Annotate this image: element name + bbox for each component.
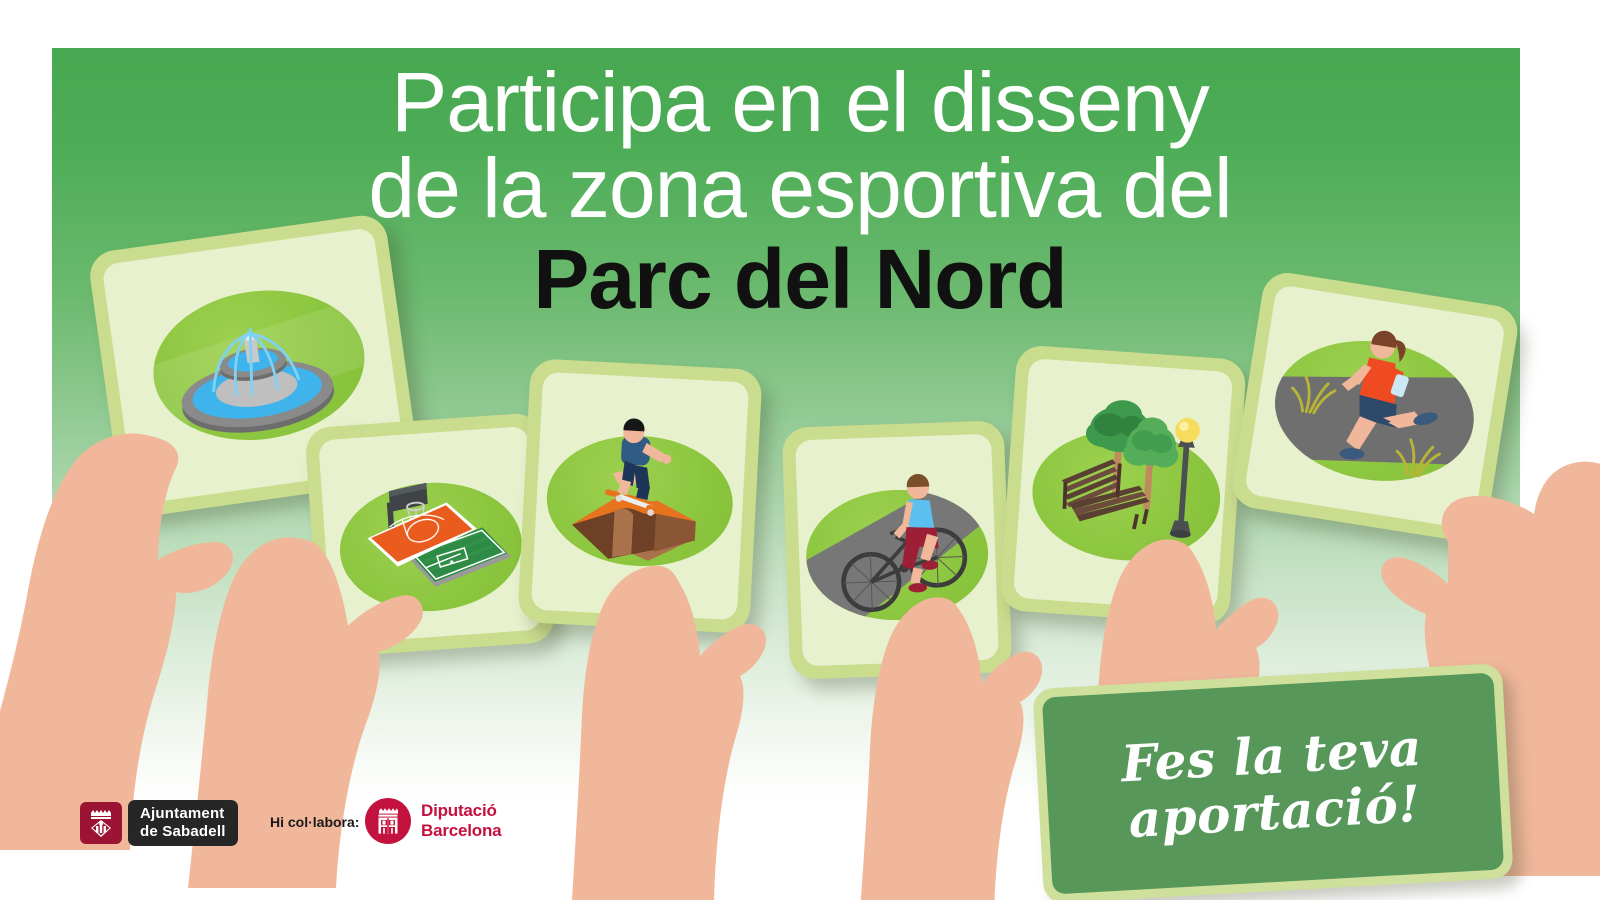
diputacio-line-2: Barcelona: [421, 821, 501, 841]
sabadell-crest-icon: [80, 802, 122, 844]
contribution-callout[interactable]: Fes la teva aportació!: [1032, 663, 1513, 900]
bench-figure: [1059, 456, 1152, 530]
runner-figure: [1330, 325, 1452, 473]
diputacio-line-1: Diputació: [421, 801, 501, 821]
logo-diputacio-barcelona[interactable]: Diputació Barcelona: [365, 798, 501, 844]
collaboration-label: Hi col·labora:: [270, 814, 359, 830]
logo-ajuntament-sabadell[interactable]: Ajuntament de Sabadell: [80, 800, 238, 846]
contribution-callout-inner: Fes la teva aportació!: [1042, 673, 1504, 895]
sabadell-name-line-2: de Sabadell: [140, 823, 226, 841]
sabadell-name-line-1: Ajuntament: [140, 805, 226, 823]
diputacio-crest-icon: [365, 798, 411, 844]
poster-canvas: Participa en el disseny de la zona espor…: [0, 0, 1600, 900]
sabadell-name-box: Ajuntament de Sabadell: [128, 800, 238, 846]
grass-tuft-left: [1289, 375, 1336, 416]
diputacio-name: Diputació Barcelona: [421, 801, 501, 842]
footer-logos: Ajuntament de Sabadell Hi col·labora:: [0, 790, 1600, 854]
